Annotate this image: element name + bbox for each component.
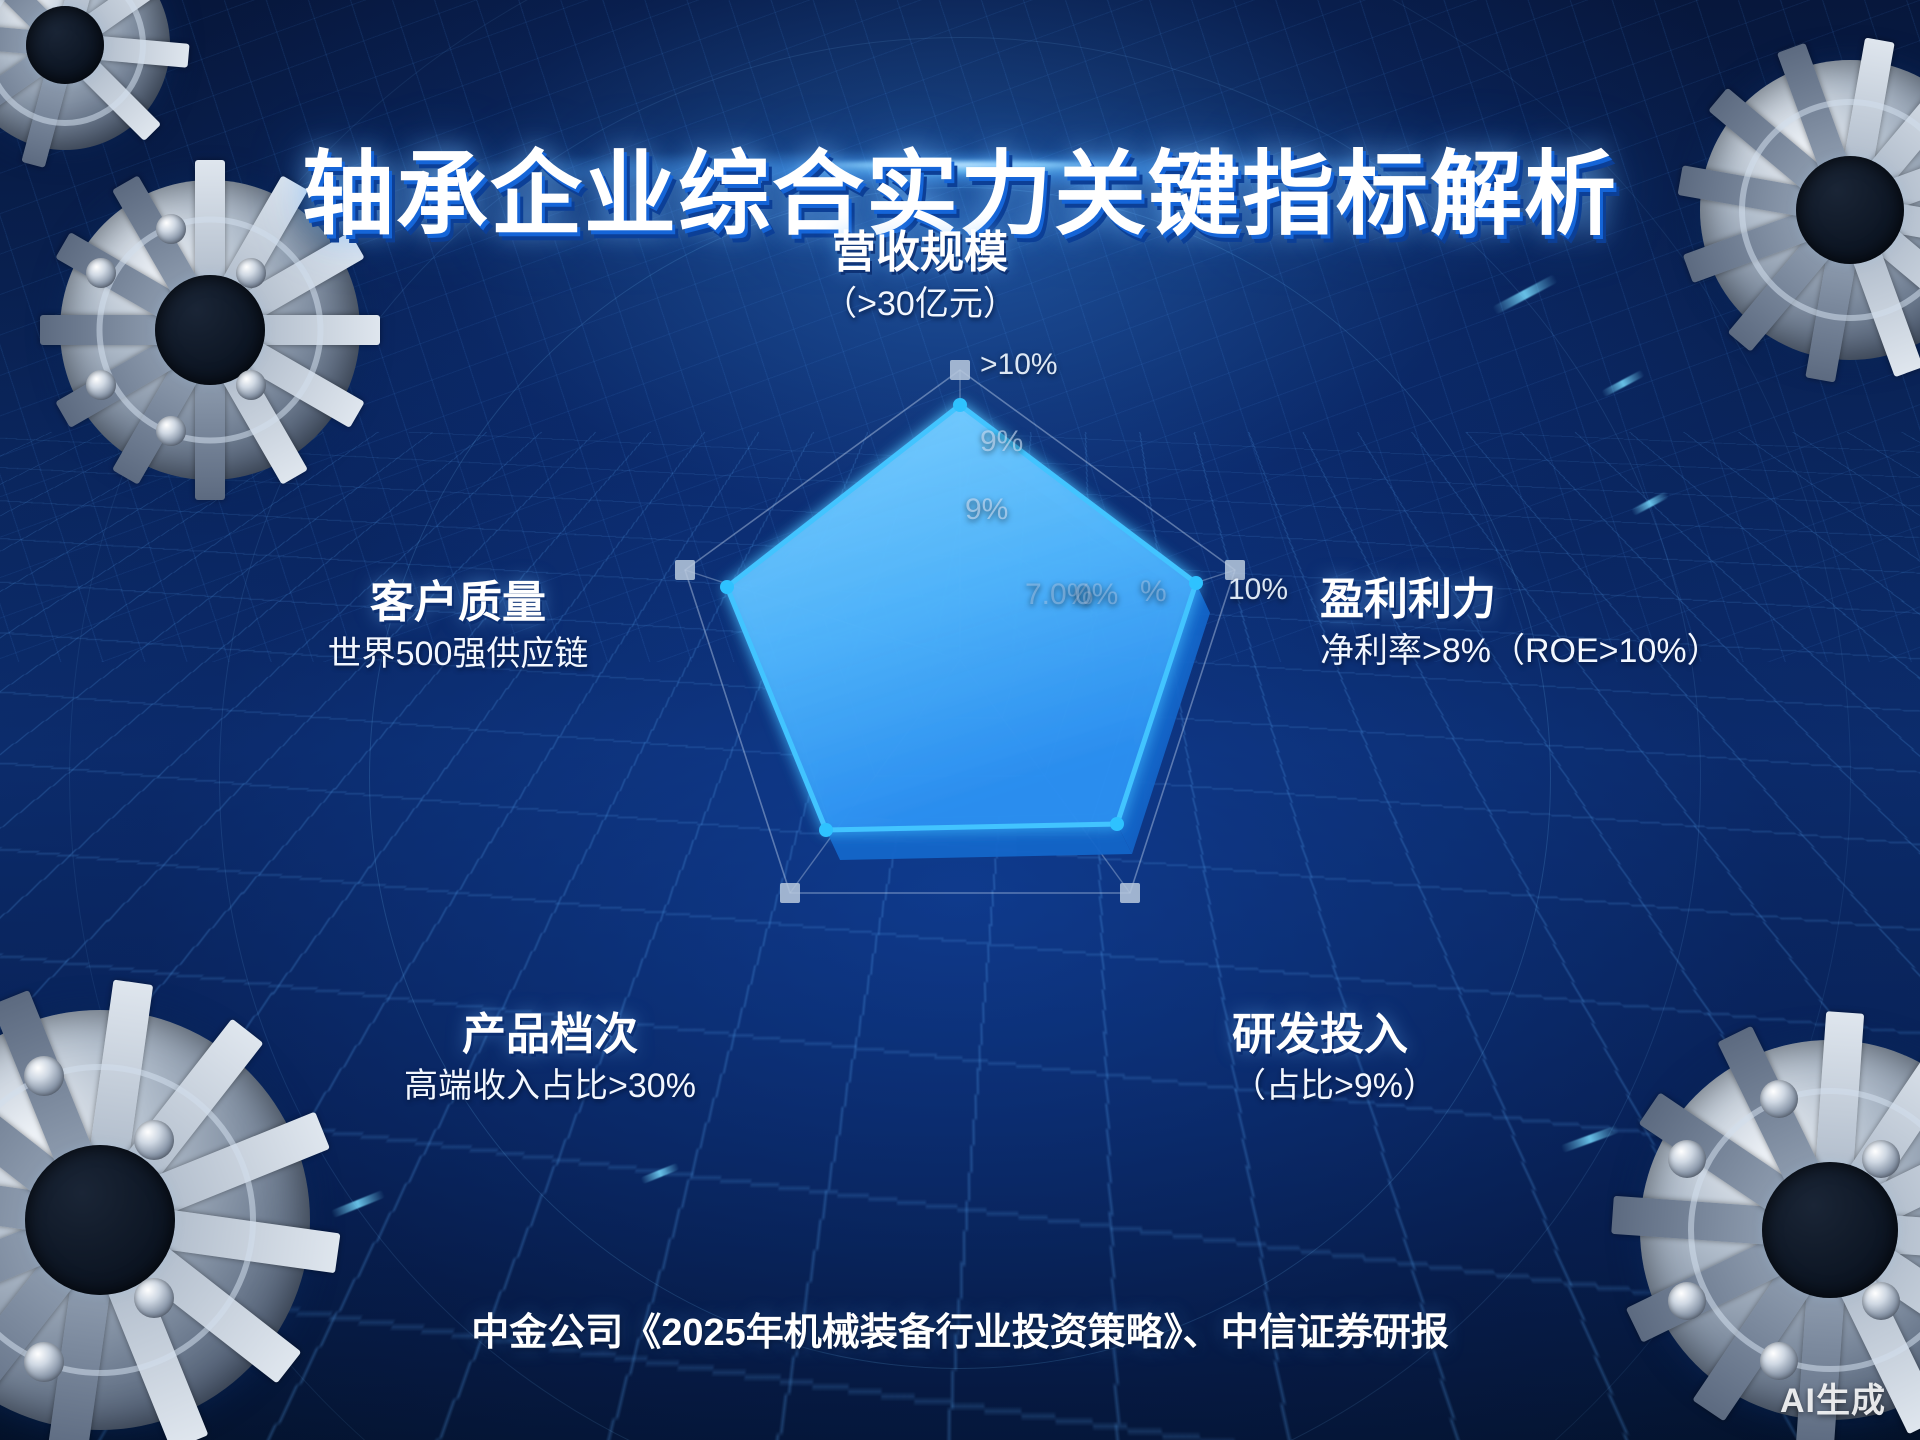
axis-label-product-tier-name: 产品档次 — [300, 1010, 800, 1059]
ai-watermark: AI生成 — [1780, 1373, 1886, 1422]
radar-value-top: >10% — [980, 348, 1058, 382]
bearing-ball — [86, 258, 116, 288]
gear-hub — [1762, 1162, 1898, 1298]
radar-value-inner-pct: % — [1140, 575, 1167, 609]
gear-hub — [25, 1145, 175, 1295]
axis-label-profitability-sub: 净利率>8%（ROE>10%） — [1320, 630, 1721, 673]
bearing-ball — [1862, 1140, 1900, 1178]
axis-label-customer-quality-sub: 世界500强供应链 — [248, 633, 668, 676]
axis-label-product-tier: 产品档次 高端收入占比>30% — [300, 1010, 800, 1108]
radar-value-inner-zero: 0% — [1075, 578, 1118, 612]
radar-value-inner-upper: 9% — [980, 425, 1023, 459]
radar-value-inner-upper-2: 9% — [965, 493, 1008, 527]
axis-label-customer-quality: 客户质量 世界500强供应链 — [248, 578, 668, 676]
axis-label-rnd-name: 研发投入 — [1232, 1010, 1437, 1059]
gear-hub — [155, 275, 265, 385]
axis-label-customer-quality-name: 客户质量 — [248, 578, 668, 627]
axis-label-rnd: 研发投入 （占比>9%） — [1232, 1010, 1437, 1108]
source-citation: 中金公司《2025年机械装备行业投资策略》、中信证券研报 — [0, 1301, 1920, 1356]
bearing-ball — [1760, 1080, 1798, 1118]
bearing-ball — [236, 258, 266, 288]
bearing-ball — [1668, 1140, 1706, 1178]
axis-label-revenue-sub: （>30亿元） — [710, 283, 1130, 326]
bearing-ball — [86, 370, 116, 400]
axis-label-profitability-name: 盈利利力 — [1320, 575, 1721, 624]
bearing-ball — [24, 1056, 64, 1096]
radar-series-area — [727, 405, 1196, 830]
axis-label-revenue: 营收规模 （>30亿元） — [710, 228, 1130, 326]
radar-svg — [510, 330, 1410, 1030]
axis-label-revenue-name: 营收规模 — [710, 228, 1130, 277]
axis-label-profitability: 盈利利力 净利率>8%（ROE>10%） — [1320, 575, 1721, 673]
bearing-ball — [156, 416, 186, 446]
axis-label-rnd-sub: （占比>9%） — [1232, 1065, 1437, 1108]
axis-label-product-tier-sub: 高端收入占比>30% — [300, 1065, 800, 1108]
bearing-ball — [134, 1120, 174, 1160]
bearing-ball — [236, 370, 266, 400]
slide-canvas: 轴承企业综合实力关键指标解析 — [0, 0, 1920, 1440]
radar-value-right: 10% — [1228, 573, 1288, 607]
radar-chart: >10% 9% 9% 10% 7.0% 0% % — [510, 330, 1410, 1030]
gear-hub — [26, 6, 104, 84]
